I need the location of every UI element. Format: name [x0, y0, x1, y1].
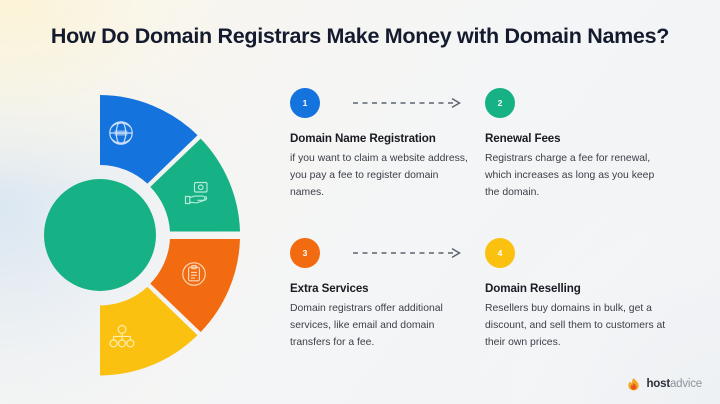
half-donut-chart — [24, 78, 264, 378]
logo-wordmark: hostadvice — [646, 379, 702, 391]
step-body-3: Domain registrars offer additional servi… — [290, 301, 475, 352]
step-body-2: Registrars charge a fee for renewal, whi… — [485, 151, 670, 202]
step-title-3: Extra Services — [290, 282, 475, 295]
step-item-3: 3 Extra Services Domain registrars offer… — [290, 238, 475, 352]
step-title-1: Domain Name Registration — [290, 132, 475, 145]
logo-text-advice: advice — [670, 378, 702, 390]
logo-text-host: host — [646, 378, 669, 390]
step-title-4: Domain Reselling — [485, 282, 670, 295]
step-badge-4: 4 — [485, 238, 515, 268]
step-badge-3: 3 — [290, 238, 320, 268]
flame-icon — [626, 377, 641, 392]
infographic-page: How Do Domain Registrars Make Money with… — [0, 0, 720, 404]
step-item-4: 4 Domain Reselling Resellers buy domains… — [485, 238, 670, 352]
step-body-4: Resellers buy domains in bulk, get a dis… — [485, 301, 670, 352]
hostadvice-logo: hostadvice — [626, 377, 702, 392]
step-badge-1: 1 — [290, 88, 320, 118]
step-body-1: if you want to claim a website address, … — [290, 151, 475, 202]
step-badge-2: 2 — [485, 88, 515, 118]
step-item-1: 1 Domain Name Registration if you want t… — [290, 88, 475, 202]
step-item-2: 2 Renewal Fees Registrars charge a fee f… — [485, 88, 670, 202]
page-title: How Do Domain Registrars Make Money with… — [0, 24, 720, 49]
donut-center-circle — [44, 179, 156, 291]
steps-grid: 1 Domain Name Registration if you want t… — [290, 88, 700, 368]
step-title-2: Renewal Fees — [485, 132, 670, 145]
